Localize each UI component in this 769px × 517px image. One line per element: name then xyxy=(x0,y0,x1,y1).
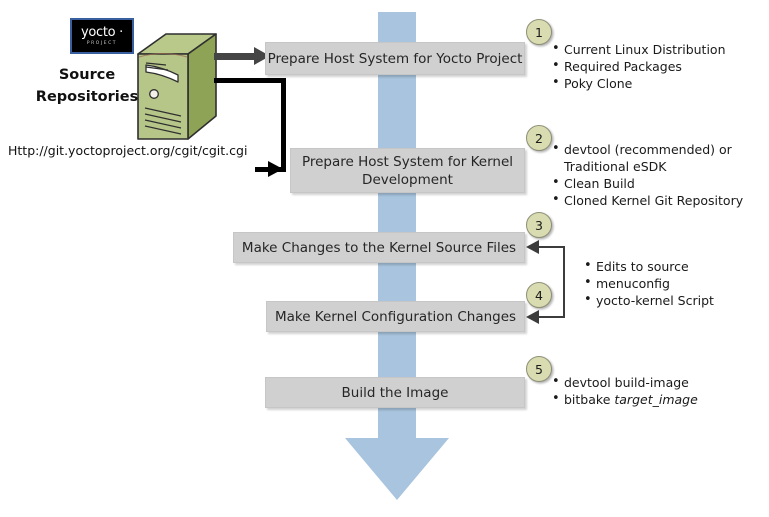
bullet-list-step-5: devtool build-image bitbake target_image xyxy=(551,374,763,408)
source-label-line1: Source xyxy=(32,64,142,86)
logo-wordmark: yocto · xyxy=(81,26,123,39)
source-label-line2: Repositories xyxy=(32,86,142,108)
step-number-3: 3 xyxy=(535,218,543,233)
bullet-text-prefix: bitbake xyxy=(564,392,614,407)
step-number-badge-5: 5 xyxy=(526,356,552,382)
connector-server-to-step2-horizontal-top xyxy=(214,78,286,83)
bullet-item: Required Packages xyxy=(551,58,763,75)
bullet-list-step-2: devtool (recommended) or Traditional eSD… xyxy=(551,141,763,209)
connector-server-to-step2-vertical xyxy=(281,78,286,172)
bracket-arm-step-4 xyxy=(538,316,565,318)
flow-arrow-shaft xyxy=(378,12,416,440)
bracket-vertical-steps-34 xyxy=(563,246,565,318)
process-box-step-1[interactable]: Prepare Host System for Yocto Project xyxy=(265,42,525,75)
step-number-badge-1: 1 xyxy=(526,19,552,45)
process-box-step-1-label: Prepare Host System for Yocto Project xyxy=(268,50,523,68)
bullet-item: Poky Clone xyxy=(551,75,763,92)
bullet-item: bitbake target_image xyxy=(551,391,763,408)
step-number-5: 5 xyxy=(535,362,543,377)
step-number-4: 4 xyxy=(535,288,543,303)
yocto-project-logo: yocto · PROJECT xyxy=(70,18,134,54)
bracket-arm-step-3 xyxy=(538,246,565,248)
step-number-badge-3: 3 xyxy=(526,212,552,238)
bullet-text-italic: target_image xyxy=(614,392,697,407)
bullet-item: devtool build-image xyxy=(551,374,763,391)
step-number-1: 1 xyxy=(535,25,543,40)
bullet-item: Edits to source xyxy=(583,258,763,275)
bullet-item: menuconfig xyxy=(583,275,763,292)
step-number-badge-4: 4 xyxy=(526,282,552,308)
arrowhead-server-to-step2 xyxy=(268,161,283,177)
step-number-badge-2: 2 xyxy=(526,125,552,151)
connector-server-to-step1 xyxy=(214,53,256,60)
flow-arrow-head xyxy=(345,438,449,500)
process-box-step-3[interactable]: Make Changes to the Kernel Source Files xyxy=(233,232,525,263)
source-repository-url: Http://git.yoctoproject.org/cgit/cgit.cg… xyxy=(8,143,247,158)
process-box-step-4-label: Make Kernel Configuration Changes xyxy=(275,308,516,326)
bullet-item: Current Linux Distribution xyxy=(551,41,763,58)
bullet-list-steps-3-4: Edits to source menuconfig yocto-kernel … xyxy=(583,258,763,309)
source-repositories-label: Source Repositories xyxy=(32,64,142,108)
bullet-item: Cloned Kernel Git Repository xyxy=(551,192,763,209)
workflow-diagram: yocto · PROJECT Source Re xyxy=(0,0,769,517)
bullet-item: yocto-kernel Script xyxy=(583,292,763,309)
bullet-list-step-1: Current Linux Distribution Required Pack… xyxy=(551,41,763,92)
process-box-step-5[interactable]: Build the Image xyxy=(265,377,525,408)
arrowhead-bracket-to-step-3 xyxy=(526,240,539,254)
process-box-step-5-label: Build the Image xyxy=(342,384,449,402)
process-box-step-2[interactable]: Prepare Host System for Kernel Developme… xyxy=(290,148,525,193)
logo-subtext: PROJECT xyxy=(87,40,117,47)
arrowhead-bracket-to-step-4 xyxy=(526,310,539,324)
process-box-step-2-label: Prepare Host System for Kernel Developme… xyxy=(291,153,524,189)
process-box-step-3-label: Make Changes to the Kernel Source Files xyxy=(242,239,516,257)
bullet-item: devtool (recommended) or Traditional eSD… xyxy=(551,141,763,175)
bullet-item: Clean Build xyxy=(551,175,763,192)
server-tower-icon xyxy=(136,32,218,144)
step-number-2: 2 xyxy=(535,131,543,146)
process-box-step-4[interactable]: Make Kernel Configuration Changes xyxy=(266,301,525,332)
